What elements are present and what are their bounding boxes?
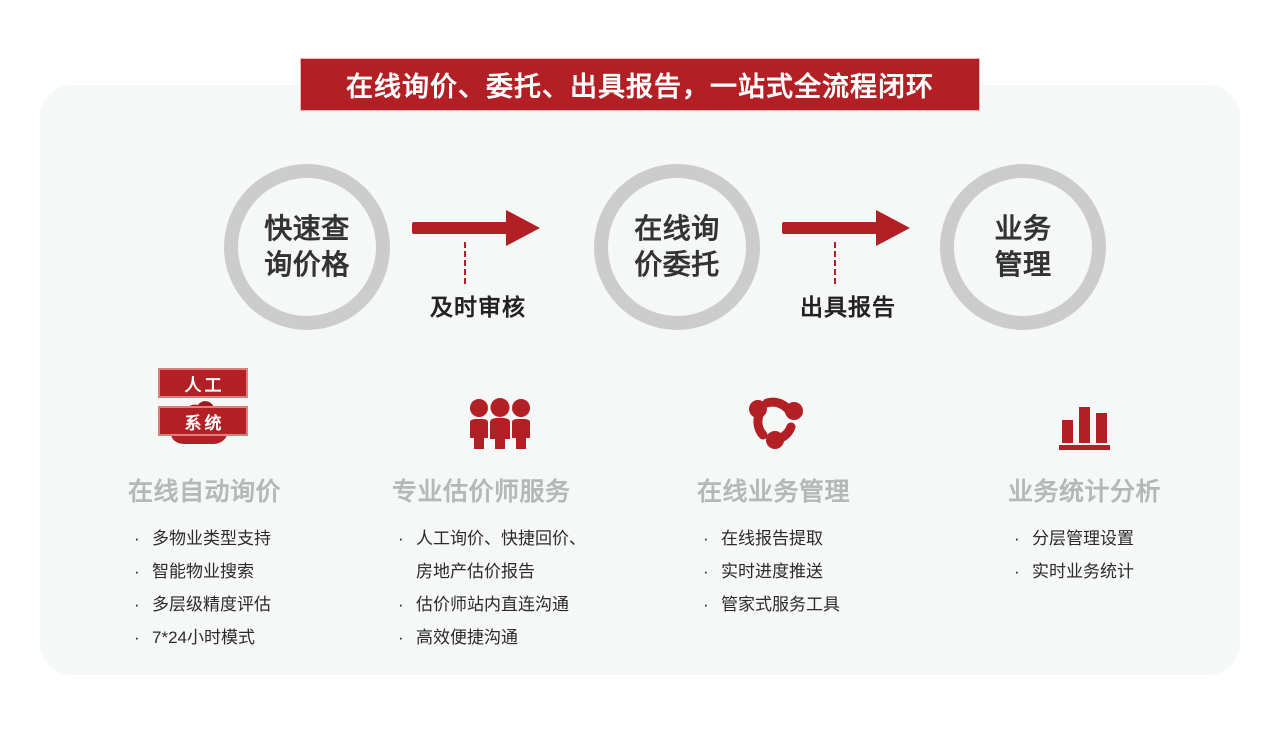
title-banner: 在线询价、委托、出具报告，一站式全流程闭环 — [300, 58, 980, 111]
feature-list: 在线报告提取 实时进度推送 管家式服务工具 — [701, 522, 985, 621]
flow-node-quick-price-query: 快速查 询价格 — [224, 164, 390, 330]
list-item: 高效便捷沟通 — [396, 621, 680, 654]
arrow-shaft — [782, 222, 882, 234]
list-item: 智能物业搜索 — [132, 555, 410, 588]
flow-node-label: 快速查 询价格 — [264, 211, 350, 283]
flow-node-business-management: 业务 管理 — [940, 164, 1106, 330]
list-item: 多层级精度评估 — [132, 588, 410, 621]
people-group-icon — [390, 392, 680, 450]
flow-arrow-caption: 出具报告 — [778, 288, 918, 322]
feature-column-business-statistics: 业务统计分析 分层管理设置 实时业务统计 — [1000, 392, 1280, 588]
feature-title: 专业估价师服务 — [392, 472, 680, 508]
arrow-dashed-connector — [464, 242, 466, 284]
flow-arrow-caption: 及时审核 — [408, 288, 548, 322]
process-flow-row: 人工 系统 快速查 询价格 及时审核 在线询 价委托 出具报告 业务 管理 — [0, 150, 1280, 350]
feature-list: 多物业类型支持 智能物业搜索 多层级精度评估 7*24小时模式 — [132, 522, 410, 655]
feature-column-professional-appraiser-service: 专业估价师服务 人工询价、快捷回价、 房地产估价报告 估价师站内直连沟通 高效便… — [390, 392, 680, 655]
flow-arrow-1: 及时审核 — [408, 150, 578, 330]
list-item: 实时业务统计 — [1012, 555, 1280, 588]
list-item: 分层管理设置 — [1012, 522, 1280, 555]
list-item: 人工询价、快捷回价、 房地产估价报告 — [396, 522, 680, 588]
feature-list: 人工询价、快捷回价、 房地产估价报告 估价师站内直连沟通 高效便捷沟通 — [396, 522, 680, 655]
flow-node-label: 业务 管理 — [994, 211, 1051, 283]
network-cycle-icon — [695, 392, 985, 450]
feature-title: 在线自动询价 — [128, 472, 410, 508]
arrow-dashed-connector — [834, 242, 836, 284]
feature-column-online-business-management: 在线业务管理 在线报告提取 实时进度推送 管家式服务工具 — [695, 392, 985, 621]
flow-arrow-2: 出具报告 — [778, 150, 948, 330]
flow-node-label: 在线询 价委托 — [634, 211, 720, 283]
list-item: 在线报告提取 — [701, 522, 985, 555]
list-item: 估价师站内直连沟通 — [396, 588, 680, 621]
role-tag-system: 系统 — [158, 406, 248, 436]
list-item: 多物业类型支持 — [132, 522, 410, 555]
feature-list: 分层管理设置 实时业务统计 — [1012, 522, 1280, 588]
list-item: 实时进度推送 — [701, 555, 985, 588]
arrow-head-icon — [506, 210, 540, 246]
list-item: 7*24小时模式 — [132, 621, 410, 654]
banner-title-text: 在线询价、委托、出具报告，一站式全流程闭环 — [346, 65, 934, 104]
arrow-shaft — [412, 222, 512, 234]
list-item: 管家式服务工具 — [701, 588, 985, 621]
role-tag-manual: 人工 — [158, 368, 248, 398]
bar-chart-icon — [1000, 392, 1280, 450]
feature-title: 在线业务管理 — [697, 472, 985, 508]
role-tags-group: 人工 系统 — [158, 368, 268, 444]
arrow-head-icon — [876, 210, 910, 246]
feature-title: 业务统计分析 — [1008, 472, 1280, 508]
flow-node-online-inquiry-entrust: 在线询 价委托 — [594, 164, 760, 330]
